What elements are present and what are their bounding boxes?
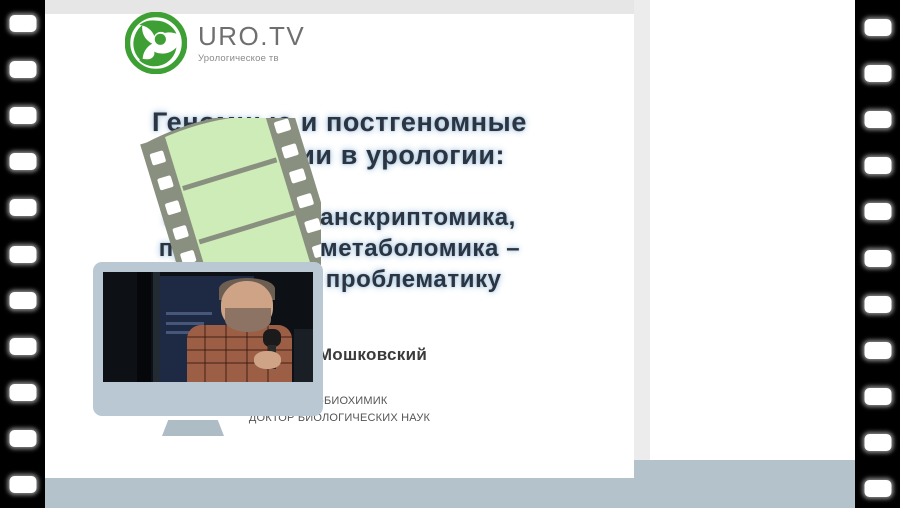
plaid-stripe [187,349,292,351]
film-perforation [9,430,36,447]
film-perforation [9,199,36,216]
film-perforation [9,338,36,355]
plaid-stripe [204,325,206,382]
presenter-hand [254,351,281,369]
video-player-frame: Геномные и постгеномные технологии в уро… [0,0,900,508]
brand-text: URO.TV Урологическое тв [198,22,305,64]
plaid-stripe [225,325,227,382]
film-perforation [864,203,891,220]
film-perforation [9,292,36,309]
presenter-scene [103,272,313,382]
room-pillar-edge [153,272,159,382]
film-perforation [864,157,891,174]
film-strip-left [0,0,45,508]
brand-title: URO.TV [198,22,305,50]
film-perforation [9,15,36,32]
desk-band [45,478,855,508]
projection-text-line [166,312,212,315]
desk-band-right [634,460,855,478]
brand-subtitle: Урологическое тв [198,53,305,64]
video-canvas: Геномные и постгеномные технологии в уро… [45,0,855,508]
film-perforation [864,342,891,359]
film-perforation [9,384,36,401]
film-perforation [9,153,36,170]
film-perforation [864,250,891,267]
monitor-stand [162,420,224,436]
uro-tv-swirl-logo-icon [125,12,187,74]
film-perforation [864,434,891,451]
right-panel-background [634,0,855,478]
slide-right-gutter [634,0,650,478]
film-perforation [864,480,891,497]
film-perforation [864,19,891,36]
projection-text-line [166,322,204,325]
film-perforation [864,388,891,405]
plaid-stripe [246,325,248,382]
film-perforation [864,296,891,313]
presenter-monitor-frame [93,262,323,416]
film-perforation [9,246,36,263]
film-perforation [9,476,36,493]
film-perforation [9,61,36,78]
film-strip-right [855,0,900,508]
room-object [294,329,313,382]
presenter-video-still [103,272,313,382]
brand-logo: URO.TV Урологическое тв [125,12,305,74]
room-pillar [137,272,152,382]
film-perforation [864,111,891,128]
film-perforation [864,65,891,82]
film-perforation [9,107,36,124]
